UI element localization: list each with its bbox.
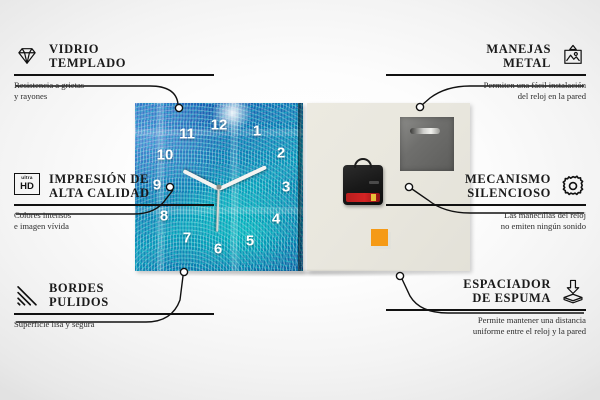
clock-mechanism <box>343 165 383 205</box>
clock-numeral-10: 10 <box>157 148 174 163</box>
product-shadow <box>139 269 469 277</box>
feature-description: Las manecillas del relojno emiten ningún… <box>386 210 586 233</box>
feature-title-line1: MECANISMO <box>465 172 551 186</box>
ultra-hd-icon-main-text: HD <box>20 182 34 192</box>
feature-heading: MECANISMO SILENCIOSO <box>386 172 586 200</box>
mechanism-detail <box>369 181 379 184</box>
hanger-keyhole-slot <box>410 128 440 134</box>
feature-title-line2: METAL <box>503 56 551 70</box>
feature-heading: ultra HD IMPRESIÓN DE ALTA CALIDAD <box>14 172 214 200</box>
feature-description: Colores intensose imagen vívida <box>14 210 214 233</box>
feature-title-line2: TEMPLADO <box>49 56 126 70</box>
feature-title-line2: ALTA CALIDAD <box>49 186 150 200</box>
metal-hanger-plate <box>400 117 454 171</box>
feature-title-line2: SILENCIOSO <box>467 186 551 200</box>
feature-title: ESPACIADOR DE ESPUMA <box>463 277 551 305</box>
feature-divider <box>386 309 586 311</box>
feature-title-line1: ESPACIADOR <box>463 277 551 291</box>
diamond-icon <box>14 43 40 69</box>
mechanism-hanging-loop <box>354 158 372 168</box>
glass-edge <box>298 103 303 271</box>
clock-numeral-6: 6 <box>214 242 222 257</box>
feature-divider <box>14 74 214 76</box>
picture-frame-hanging-icon <box>560 43 586 69</box>
feature-title-line1: IMPRESIÓN DE <box>49 172 149 186</box>
diagonal-lines-icon <box>14 282 40 308</box>
feature-title-line1: MANEJAS <box>486 42 551 56</box>
feature-manejas-metal: MANEJAS METAL Permiten una fácil instala… <box>386 42 586 103</box>
clock-numeral-12: 12 <box>211 118 228 133</box>
feature-heading: MANEJAS METAL <box>386 42 586 70</box>
clock-numeral-11: 11 <box>179 127 195 142</box>
feature-description: Superficie lisa y segura <box>14 319 214 331</box>
feature-divider <box>386 74 586 76</box>
clock-numeral-1: 1 <box>253 124 261 139</box>
feature-title: IMPRESIÓN DE ALTA CALIDAD <box>49 172 150 200</box>
gear-icon <box>560 173 586 199</box>
feature-vidrio-templado: VIDRIO TEMPLADO Resistencia a grietasy r… <box>14 42 214 103</box>
feature-title-line2: PULIDOS <box>49 295 109 309</box>
feature-espaciador-de-espuma: ESPACIADOR DE ESPUMA Permite mantener un… <box>386 277 586 338</box>
feature-impresion-alta-calidad: ultra HD IMPRESIÓN DE ALTA CALIDAD Color… <box>14 172 214 233</box>
feature-divider <box>386 204 586 206</box>
clock-numeral-4: 4 <box>272 212 280 227</box>
clock-center-pin <box>217 185 222 190</box>
feature-title: MANEJAS METAL <box>486 42 551 70</box>
feature-title-line1: VIDRIO <box>49 42 99 56</box>
feature-title-line1: BORDES <box>49 281 104 295</box>
feature-heading: ESPACIADOR DE ESPUMA <box>386 277 586 305</box>
feature-bordes-pulidos: BORDES PULIDOS Superficie lisa y segura <box>14 281 214 330</box>
clock-numeral-5: 5 <box>246 234 254 249</box>
feature-heading: VIDRIO TEMPLADO <box>14 42 214 70</box>
feature-mecanismo-silencioso: MECANISMO SILENCIOSO Las manecillas del … <box>386 172 586 233</box>
feature-title: VIDRIO TEMPLADO <box>49 42 126 70</box>
clock-numeral-3: 3 <box>282 180 290 195</box>
feature-title-line2: DE ESPUMA <box>472 291 551 305</box>
feature-description: Permite mantener una distanciauniforme e… <box>386 315 586 338</box>
mechanism-battery-label <box>346 193 380 202</box>
clock-numeral-2: 2 <box>277 146 285 161</box>
feature-heading: BORDES PULIDOS <box>14 281 214 309</box>
feature-divider <box>14 313 214 315</box>
feature-title: BORDES PULIDOS <box>49 281 109 309</box>
feature-title: MECANISMO SILENCIOSO <box>465 172 551 200</box>
arrow-down-onto-pad-icon <box>560 278 586 304</box>
feature-divider <box>14 204 214 206</box>
ultra-hd-icon: ultra HD <box>14 173 40 199</box>
feature-description: Permiten una fácil instalacióndel reloj … <box>386 80 586 103</box>
feature-description: Resistencia a grietasy rayones <box>14 80 214 103</box>
